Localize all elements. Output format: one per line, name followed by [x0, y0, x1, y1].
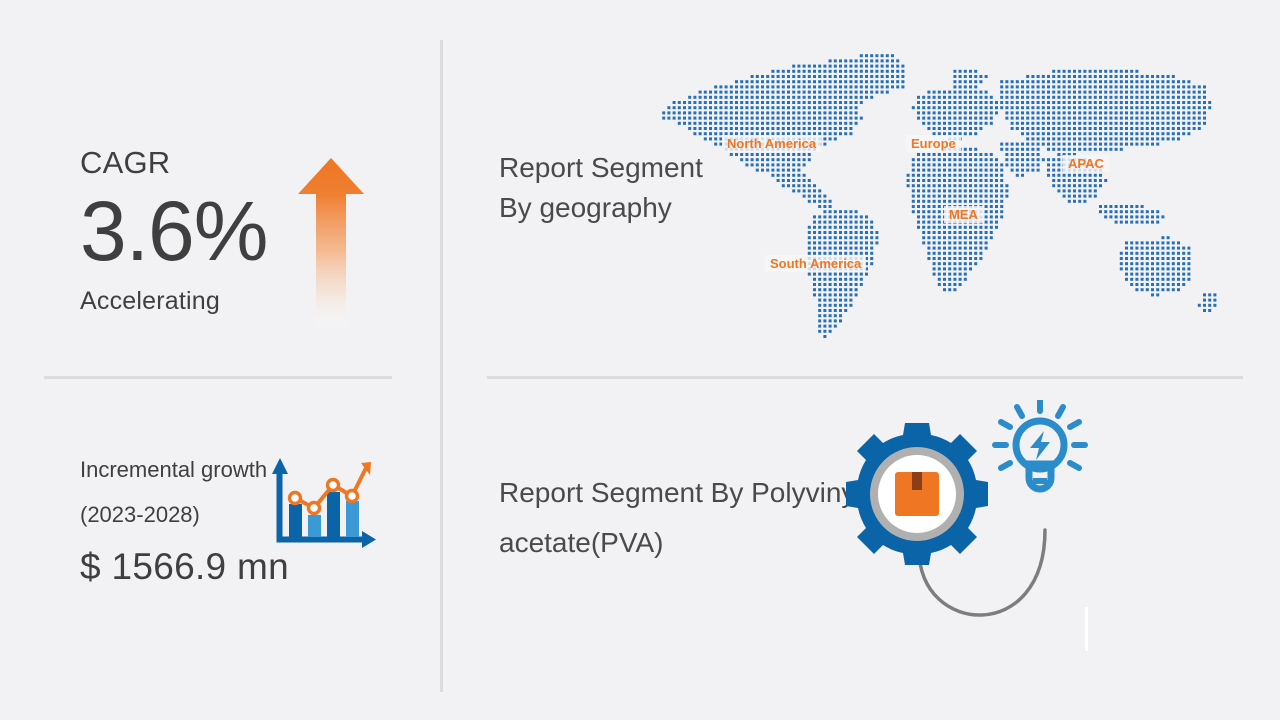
left-horizontal-divider: [44, 376, 392, 379]
right-horizontal-divider: [487, 376, 1243, 379]
map-label-south-america: South America: [765, 255, 866, 272]
map-label-europe: Europe: [906, 135, 961, 152]
map-label-apac: APAC: [1063, 155, 1109, 172]
up-arrow-gradient-icon: [296, 156, 366, 336]
vertical-divider: [440, 40, 443, 692]
bar-line-chart-icon: [262, 452, 377, 562]
gear-shape: [846, 423, 988, 565]
geography-panel-title: Report Segment By geography: [499, 148, 709, 228]
lightbulb-shape: [995, 401, 1085, 489]
map-label-mea: MEA: [944, 206, 983, 223]
dotted-world-map: [655, 45, 1220, 345]
product-segment-panel-title: Report Segment By Polyvinyl acetate(PVA): [499, 468, 879, 568]
map-label-north-america: North America: [722, 135, 821, 152]
infographic-canvas: CAGR 3.6% Accelerating Incremental growt…: [0, 0, 1280, 720]
gear-box-lightbulb-icon: [845, 400, 1115, 660]
